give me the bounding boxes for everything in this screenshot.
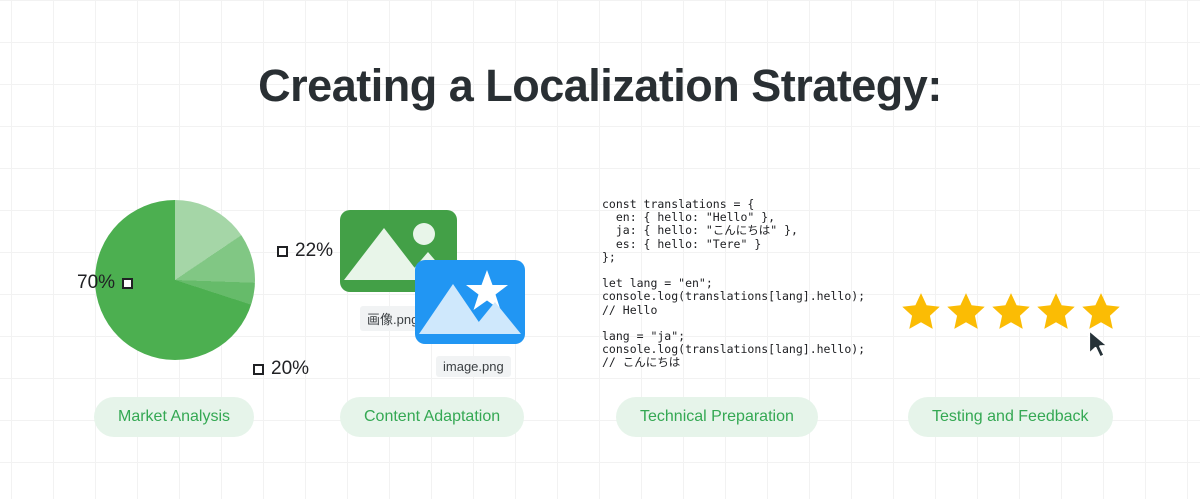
- market-analysis-visual: 70% 22% 20%: [40, 180, 310, 390]
- step-pill-market-analysis[interactable]: Market Analysis: [94, 397, 254, 437]
- star-icon[interactable]: [1080, 290, 1122, 332]
- star-icon[interactable]: [900, 290, 942, 332]
- step-pill-content-adaptation[interactable]: Content Adaptation: [340, 397, 524, 437]
- image-placeholder-star-icon: [415, 260, 525, 344]
- image-card-english[interactable]: [415, 260, 525, 344]
- pie-label-70: 70%: [77, 272, 133, 294]
- technical-preparation-visual: const translations = { en: { hello: "Hel…: [580, 180, 880, 390]
- pie-label-20: 20%: [253, 358, 309, 380]
- step-pill-technical-preparation[interactable]: Technical Preparation: [616, 397, 818, 437]
- pie-label-70-text: 70%: [77, 272, 115, 294]
- pie-label-20-text: 20%: [271, 358, 309, 380]
- star-rating[interactable]: [900, 290, 1122, 332]
- step-pill-testing-and-feedback[interactable]: Testing and Feedback: [908, 397, 1113, 437]
- mouse-cursor-icon: [1086, 328, 1112, 360]
- square-marker-icon: [253, 364, 264, 375]
- code-snippet: const translations = { en: { hello: "Hel…: [602, 198, 865, 370]
- page-title: Creating a Localization Strategy:: [0, 60, 1200, 112]
- square-marker-icon: [122, 278, 133, 289]
- file-label-english: image.png: [436, 356, 511, 377]
- pie-chart: 70% 22% 20%: [95, 200, 255, 360]
- testing-feedback-visual: [890, 180, 1140, 390]
- star-icon[interactable]: [1035, 290, 1077, 332]
- star-icon[interactable]: [945, 290, 987, 332]
- star-icon[interactable]: [990, 290, 1032, 332]
- square-marker-icon: [277, 246, 288, 257]
- content-adaptation-visual: 画像.png image.png: [320, 180, 550, 390]
